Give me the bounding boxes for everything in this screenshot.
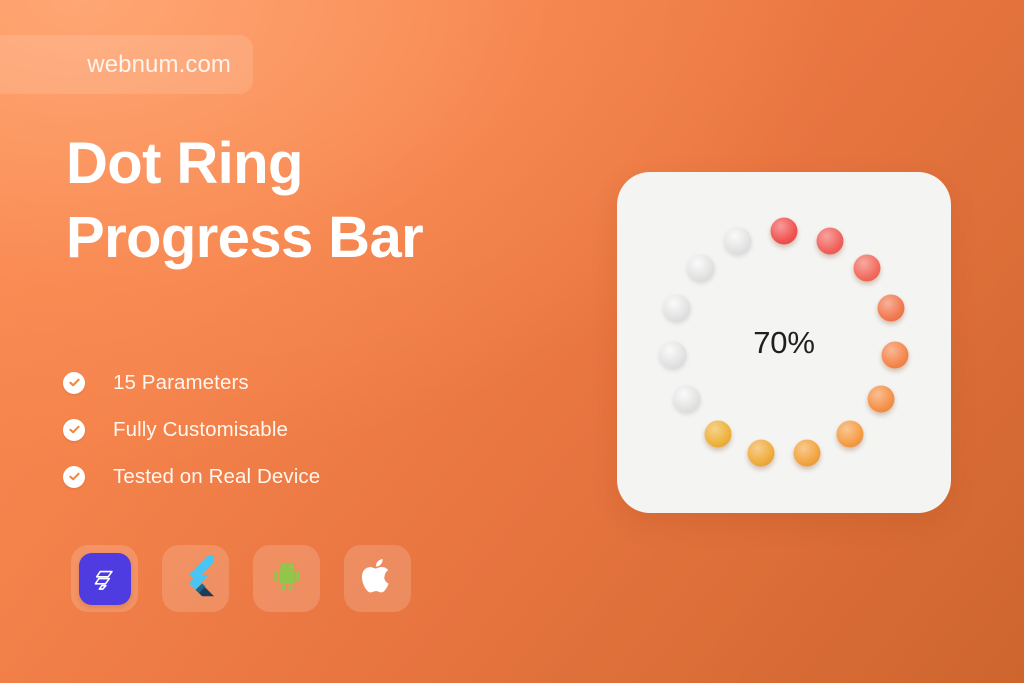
flutter-icon [178, 554, 214, 603]
tech-tile-flutter[interactable] [162, 545, 229, 612]
feature-item-label: Fully Customisable [113, 418, 288, 442]
site-badge: webnum.com [0, 35, 253, 94]
progress-dot-empty [687, 255, 714, 282]
android-icon [270, 559, 304, 598]
check-circle-icon [63, 372, 85, 394]
page-title: Dot Ring Progress Bar [66, 127, 586, 275]
progress-dot-filled [836, 420, 863, 447]
tech-tile-android[interactable] [253, 545, 320, 612]
progress-dot-filled [771, 218, 798, 245]
progress-dot-filled [705, 420, 732, 447]
feature-item-label: 15 Parameters [113, 371, 249, 395]
progress-dot-filled [877, 295, 904, 322]
feature-item-customisable: Fully Customisable [63, 406, 320, 453]
progress-dot-filled [794, 439, 821, 466]
progress-percent-label: 70% [617, 325, 951, 361]
progress-dot-filled [854, 255, 881, 282]
tech-tile-flutterflow[interactable] [71, 545, 138, 612]
check-circle-icon [63, 466, 85, 488]
progress-dot-filled [747, 439, 774, 466]
feature-item-parameters: 15 Parameters [63, 359, 320, 406]
feature-item-tested: Tested on Real Device [63, 453, 320, 500]
feature-list: 15 Parameters Fully Customisable Tested … [63, 359, 320, 500]
feature-item-label: Tested on Real Device [113, 465, 320, 489]
progress-dot-filled [867, 386, 894, 413]
tech-tile-apple[interactable] [344, 545, 411, 612]
progress-dot-empty [664, 295, 691, 322]
apple-icon [361, 556, 395, 601]
page-title-line-2: Progress Bar [66, 201, 586, 275]
page-title-line-1: Dot Ring [66, 127, 586, 201]
progress-dot-empty [674, 386, 701, 413]
tech-stack-list [71, 545, 411, 612]
check-circle-icon [63, 419, 85, 441]
poster-canvas: webnum.com Dot Ring Progress Bar 15 Para… [0, 0, 1024, 683]
flutterflow-icon [79, 553, 131, 605]
progress-dot-empty [725, 227, 752, 254]
progress-dot-filled [816, 227, 843, 254]
site-badge-label: webnum.com [87, 51, 231, 79]
progress-card: 70% [617, 172, 951, 513]
